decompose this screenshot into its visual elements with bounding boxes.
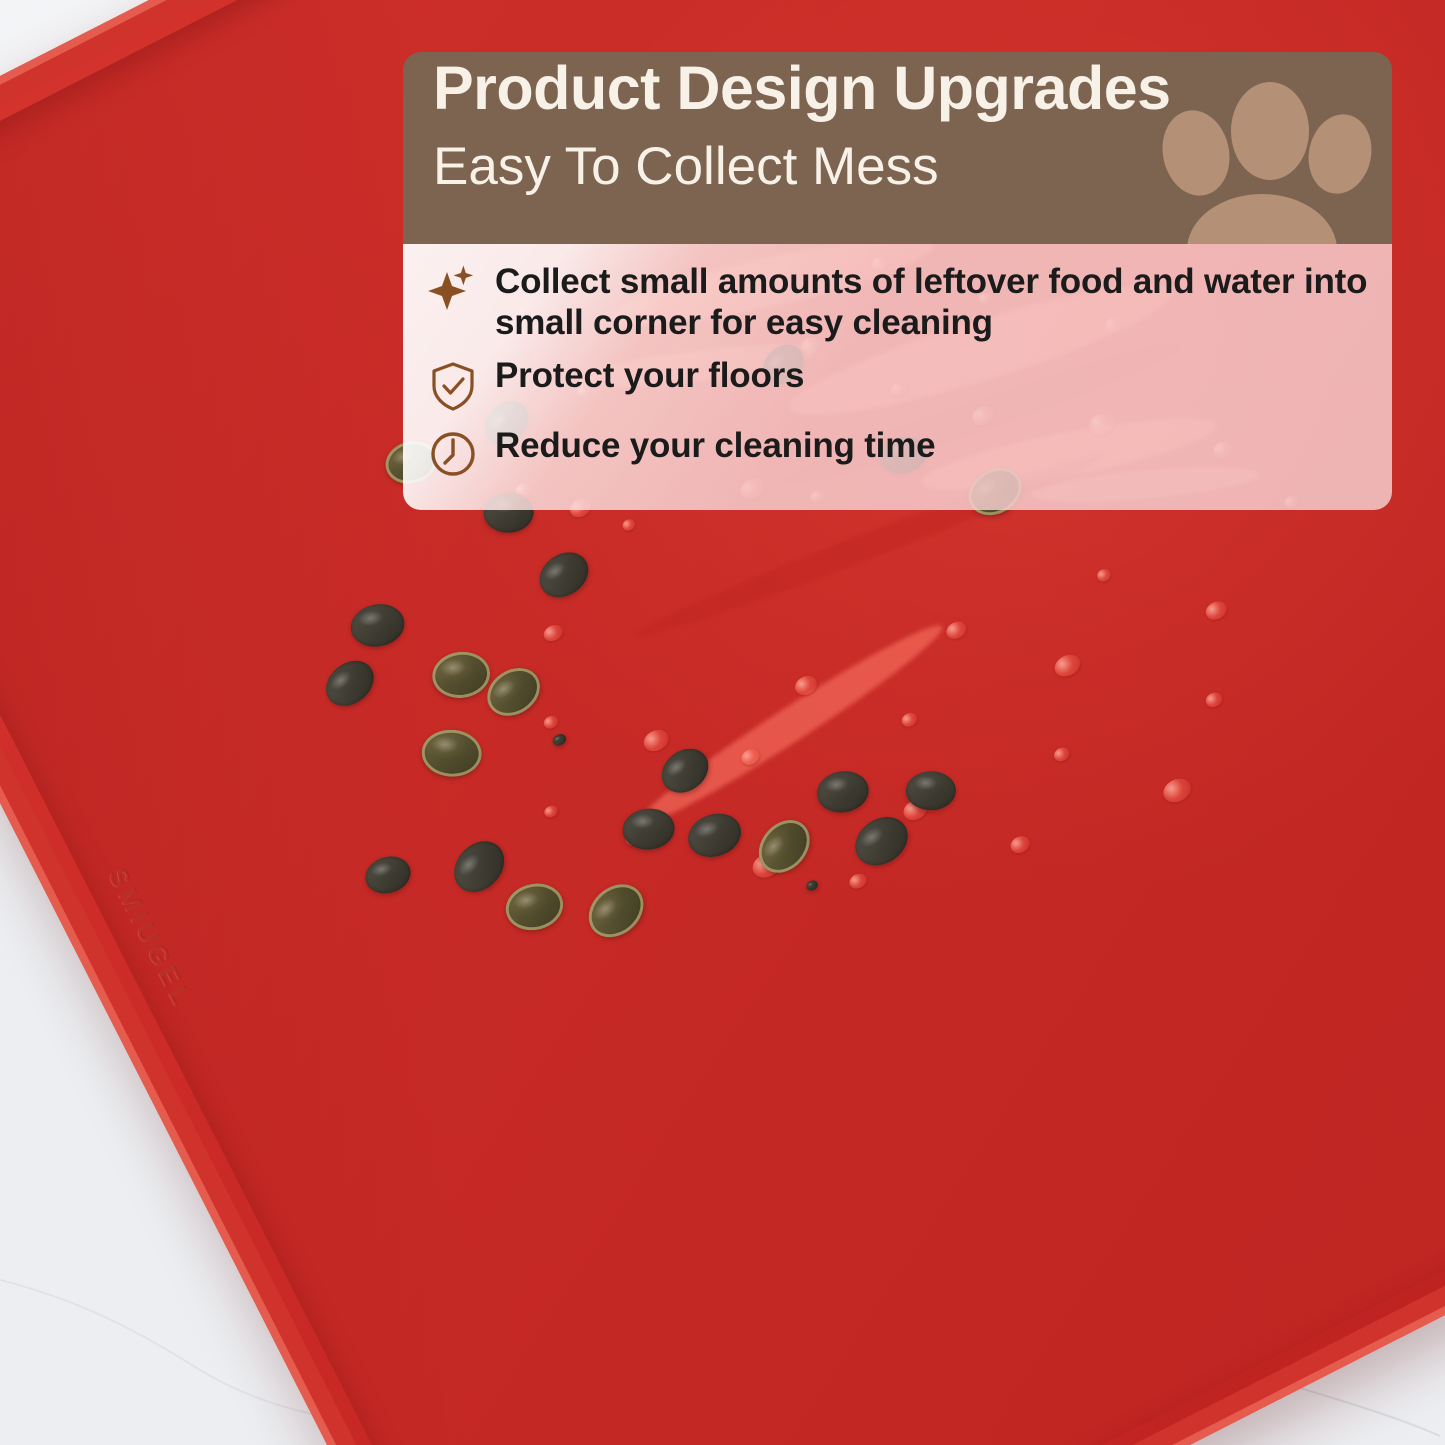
panel-header: Product Design Upgrades Easy To Collect …	[403, 52, 1392, 244]
info-panel: Product Design Upgrades Easy To Collect …	[403, 52, 1392, 510]
panel-subtitle: Easy To Collect Mess	[433, 140, 939, 193]
benefit-text: Collect small amounts of leftover food a…	[495, 260, 1378, 344]
benefit-list: Collect small amounts of leftover food a…	[425, 260, 1378, 492]
sparkle-icon	[425, 260, 481, 316]
panel-body: Collect small amounts of leftover food a…	[403, 244, 1392, 510]
benefit-item: Collect small amounts of leftover food a…	[425, 260, 1378, 344]
benefit-text: Protect your floors	[495, 354, 804, 397]
panel-title: Product Design Upgrades	[433, 58, 1171, 119]
benefit-item: Reduce your cleaning time	[425, 424, 1378, 482]
clock-icon	[425, 426, 481, 482]
product-marketing-image: SMIUGEL Product Design Upgrades Easy To …	[0, 0, 1445, 1445]
benefit-text: Reduce your cleaning time	[495, 424, 935, 467]
shield-check-icon	[425, 358, 481, 414]
paw-print-icon	[1159, 82, 1374, 244]
benefit-item: Protect your floors	[425, 354, 1378, 414]
